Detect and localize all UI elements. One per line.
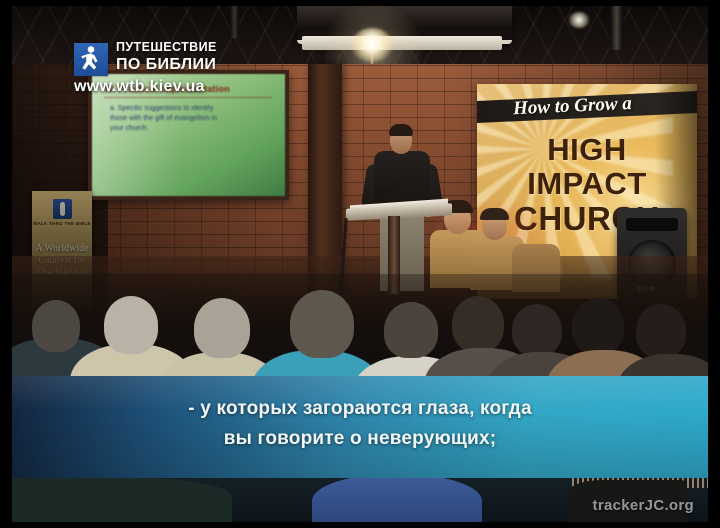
audience-head [384, 302, 438, 358]
speaker-hair [389, 124, 413, 136]
subtitle-text: - у которых загораются глаза, когда вы г… [12, 394, 708, 454]
ceiling-light [351, 28, 393, 62]
subtitle-line-1: - у которых загораются глаза, когда [12, 394, 708, 424]
channel-name-line-2: ПО БИБЛИИ [116, 56, 216, 74]
audience-head [452, 296, 504, 352]
channel-logo-bug: ПУТЕШЕСТВИЕ ПО БИБЛИИ www.wtb.kiev.ua [74, 38, 304, 100]
letterbox-right [708, 0, 720, 528]
slide-bullet: those with the gift of evangelism in [110, 114, 270, 124]
subtitle-band: - у которых загораются глаза, когда вы г… [12, 376, 708, 478]
letterbox-top [0, 0, 720, 6]
letterbox-bottom [0, 522, 720, 528]
audience-head [290, 290, 354, 358]
audience-head [104, 296, 158, 354]
slide-bullet: a. Specific suggestions to identify [110, 104, 270, 114]
foreground-person-blue-shirt [312, 478, 482, 522]
seated-person-2-hair [480, 208, 509, 220]
ceiling-pipe [230, 6, 239, 38]
pa-speaker-port [626, 218, 678, 231]
ceiling-pipe-right [610, 6, 623, 50]
ceiling-light-secondary [568, 12, 590, 28]
subtitle-line-2: вы говорите о неверующих; [12, 424, 708, 454]
audience-head [572, 298, 624, 354]
foreground-person-dark-left [12, 478, 232, 522]
audience-head [32, 300, 80, 352]
slide-bullets: a. Specific suggestions to identify thos… [110, 104, 270, 134]
tracker-watermark: trackerJC.org [593, 497, 694, 514]
letterbox-left [0, 0, 12, 528]
slide-bullet: your church. [110, 124, 270, 134]
audience-head [636, 304, 686, 358]
video-frame: IV. Practical Implementation a. Specific… [0, 0, 720, 528]
audience-head [512, 304, 562, 356]
channel-name-line-1: ПУТЕШЕСТВИЕ [116, 40, 217, 54]
video-picture: IV. Practical Implementation a. Specific… [12, 6, 708, 522]
walking-person-icon [74, 43, 108, 76]
channel-url: www.wtb.kiev.ua [74, 78, 205, 96]
audience-head [194, 298, 250, 358]
